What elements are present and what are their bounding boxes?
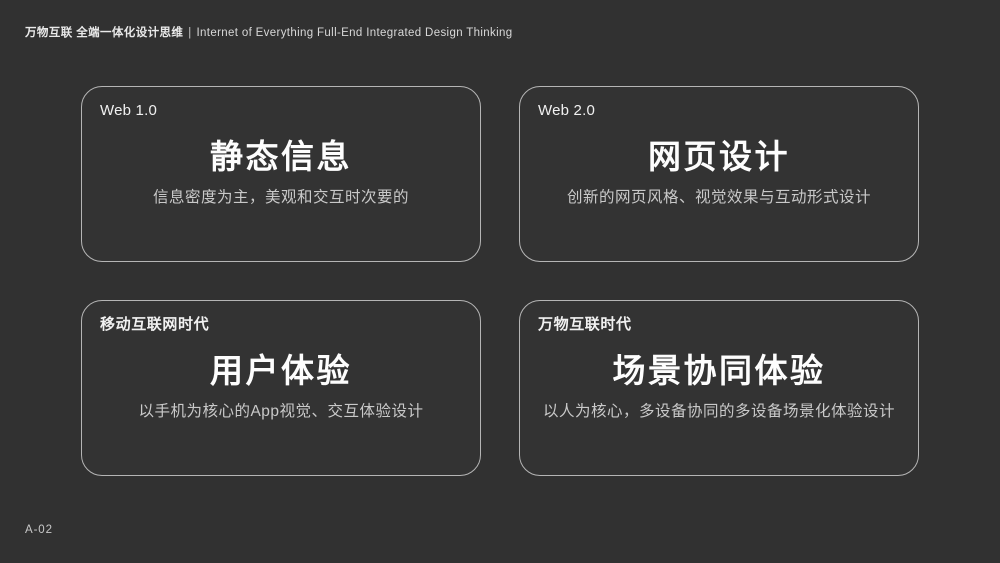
card-tag-label: 移动互联网时代 bbox=[100, 316, 209, 335]
slide-header: 万物互联 全端一体化设计思维 | Internet of Everything … bbox=[25, 24, 513, 40]
card-subtitle: 以手机为核心的App视觉、交互体验设计 bbox=[92, 402, 470, 422]
card-tag-label: 万物互联时代 bbox=[538, 316, 632, 335]
card-title: 静态信息 bbox=[92, 137, 470, 177]
card-subtitle: 以人为核心，多设备协同的多设备场景化体验设计 bbox=[530, 402, 908, 422]
card-subtitle: 创新的网页风格、视觉效果与互动形式设计 bbox=[530, 188, 908, 208]
evolution-card-web-2-0[interactable]: Web 2.0 网页设计 创新的网页风格、视觉效果与互动形式设计 bbox=[519, 86, 919, 262]
evolution-card-mobile-internet[interactable]: 移动互联网时代 用户体验 以手机为核心的App视觉、交互体验设计 bbox=[81, 300, 481, 476]
card-body: 网页设计 创新的网页风格、视觉效果与互动形式设计 bbox=[520, 137, 918, 208]
card-tag-label: Web 2.0 bbox=[538, 102, 595, 121]
card-body: 场景协同体验 以人为核心，多设备协同的多设备场景化体验设计 bbox=[520, 351, 918, 422]
card-title: 场景协同体验 bbox=[530, 351, 908, 391]
header-title-en: Internet of Everything Full-End Integrat… bbox=[196, 27, 512, 39]
header-separator: | bbox=[188, 27, 191, 39]
card-body: 静态信息 信息密度为主，美观和交互时次要的 bbox=[82, 137, 480, 208]
card-grid: Web 1.0 静态信息 信息密度为主，美观和交互时次要的 Web 2.0 网页… bbox=[81, 86, 919, 476]
evolution-card-web-1-0[interactable]: Web 1.0 静态信息 信息密度为主，美观和交互时次要的 bbox=[81, 86, 481, 262]
card-title: 网页设计 bbox=[530, 137, 908, 177]
evolution-card-internet-of-everything[interactable]: 万物互联时代 场景协同体验 以人为核心，多设备协同的多设备场景化体验设计 bbox=[519, 300, 919, 476]
card-tag-label: Web 1.0 bbox=[100, 102, 157, 121]
card-body: 用户体验 以手机为核心的App视觉、交互体验设计 bbox=[82, 351, 480, 422]
header-title-cn: 万物互联 全端一体化设计思维 bbox=[25, 24, 183, 40]
card-title: 用户体验 bbox=[92, 351, 470, 391]
slide-page-number: A-02 bbox=[25, 524, 53, 536]
card-subtitle: 信息密度为主，美观和交互时次要的 bbox=[92, 188, 470, 208]
